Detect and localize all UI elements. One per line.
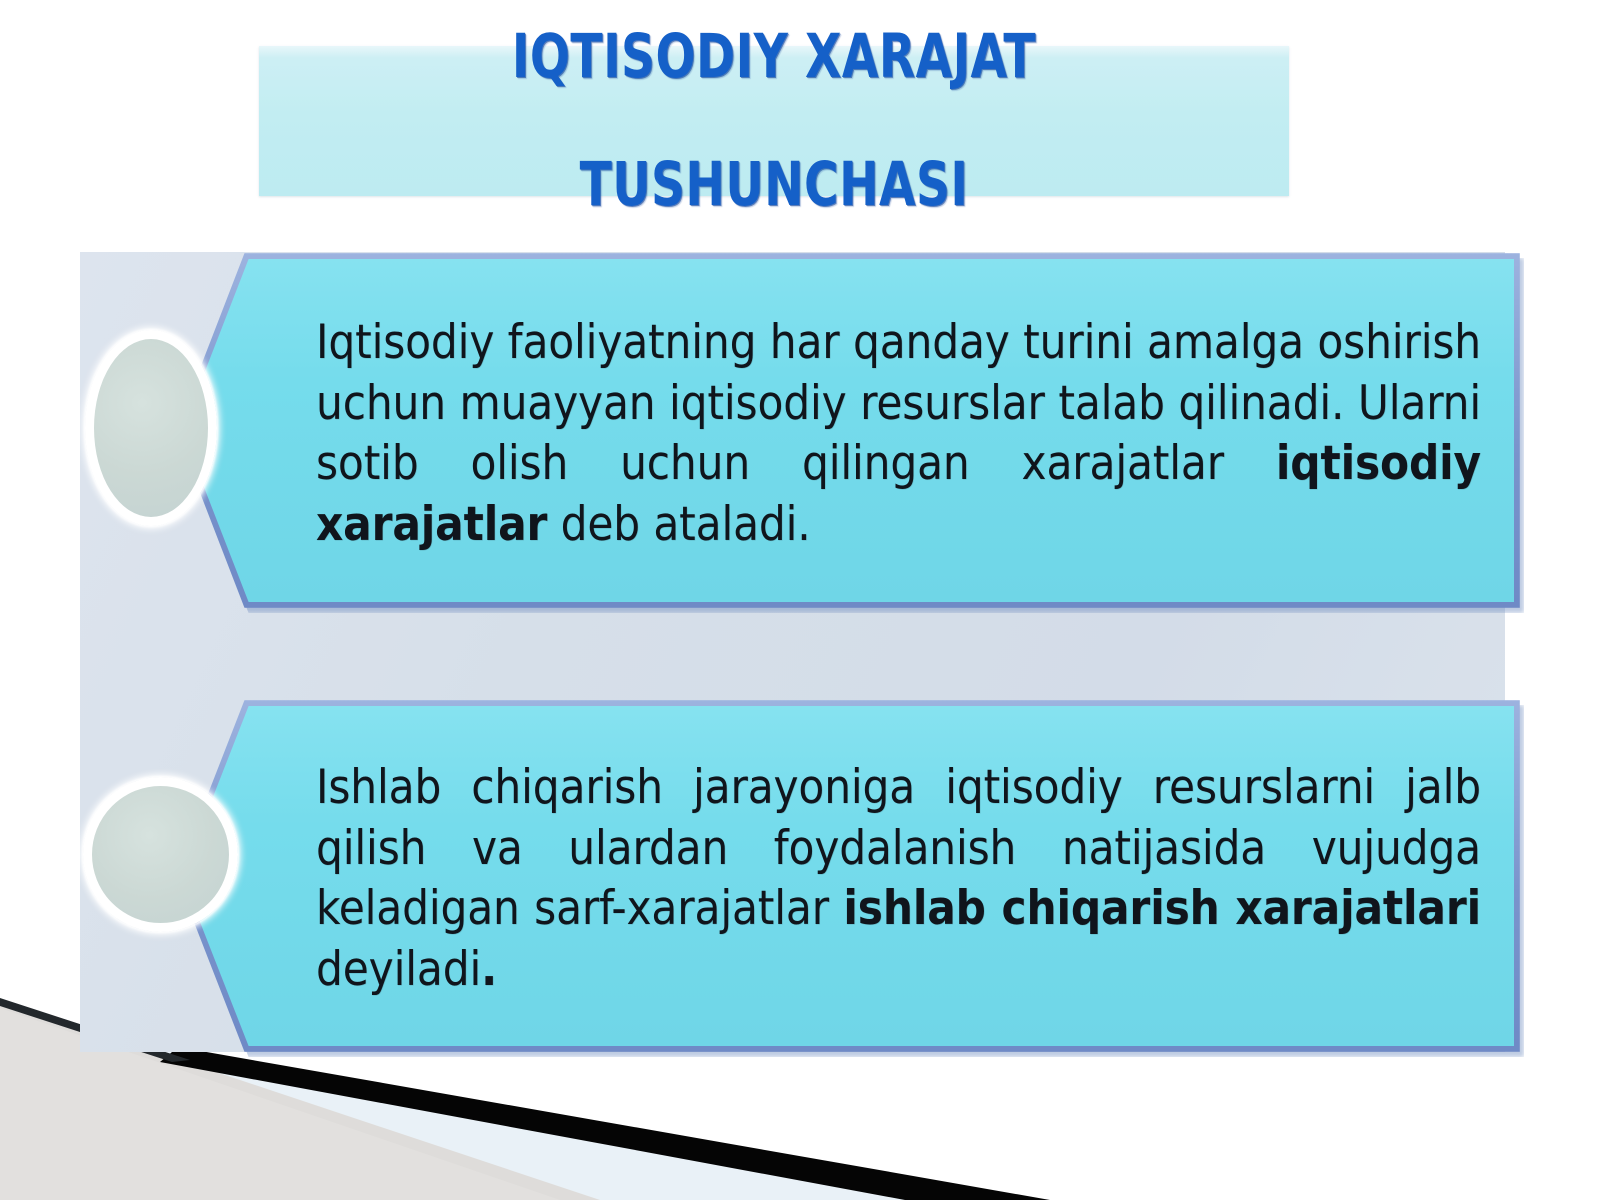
callout-2-text-part2: deyiladi bbox=[316, 942, 481, 997]
callout-box-1[interactable]: Iqtisodiy faoliyatning har qanday turini… bbox=[176, 253, 1520, 608]
title-band: IQTISODIY XARAJAT TUSHUNCHASI bbox=[259, 46, 1289, 196]
callout-2-text: Ishlab chiqarish jarayoniga iqtisodiy re… bbox=[316, 758, 1481, 1001]
callout-2-text-period: . bbox=[481, 942, 497, 997]
page-title-line-2: TUSHUNCHASI bbox=[331, 153, 1217, 217]
callout-box-2[interactable]: Ishlab chiqarish jarayoniga iqtisodiy re… bbox=[176, 700, 1520, 1052]
callout-1-text: Iqtisodiy faoliyatning har qanday turini… bbox=[316, 313, 1481, 556]
deco-black-stripe bbox=[160, 1047, 1050, 1200]
slide-canvas: IQTISODIY XARAJAT TUSHUNCHASI Iqtisodiy … bbox=[0, 0, 1600, 1200]
callout-1-marker-ellipse-icon bbox=[85, 330, 217, 526]
page-title-line-1: IQTISODIY XARAJAT bbox=[331, 25, 1217, 89]
page-title: IQTISODIY XARAJAT TUSHUNCHASI bbox=[259, 0, 1289, 281]
callout-2-text-emphasis: ishlab chiqarish xarajatlari bbox=[843, 881, 1481, 936]
callout-2-marker-circle-icon bbox=[83, 777, 238, 932]
callout-1-text-part2: deb ataladi. bbox=[547, 497, 810, 552]
